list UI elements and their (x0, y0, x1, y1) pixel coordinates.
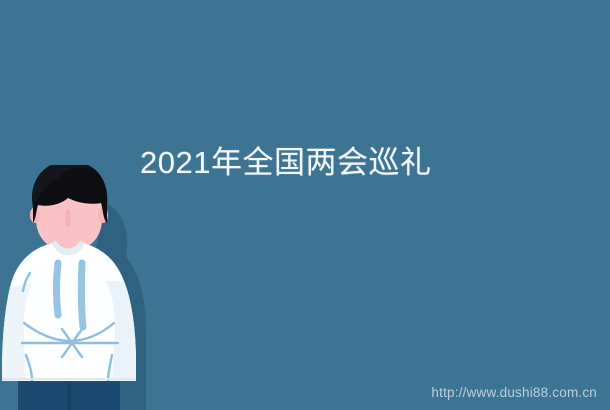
pants-center-seam (67, 383, 71, 410)
page-title: 2021年全国两会巡礼 (140, 143, 431, 183)
nose-shade (65, 209, 71, 227)
drawstring-right (81, 263, 83, 327)
person-illustration (0, 165, 160, 410)
drawstring-left (57, 263, 59, 315)
source-watermark: http://www.dushi88.com.cn (431, 385, 597, 401)
pants-group (18, 381, 120, 410)
poster-canvas: 2021年全国两会巡礼 http://www.dushi88.com.cn (0, 0, 610, 410)
